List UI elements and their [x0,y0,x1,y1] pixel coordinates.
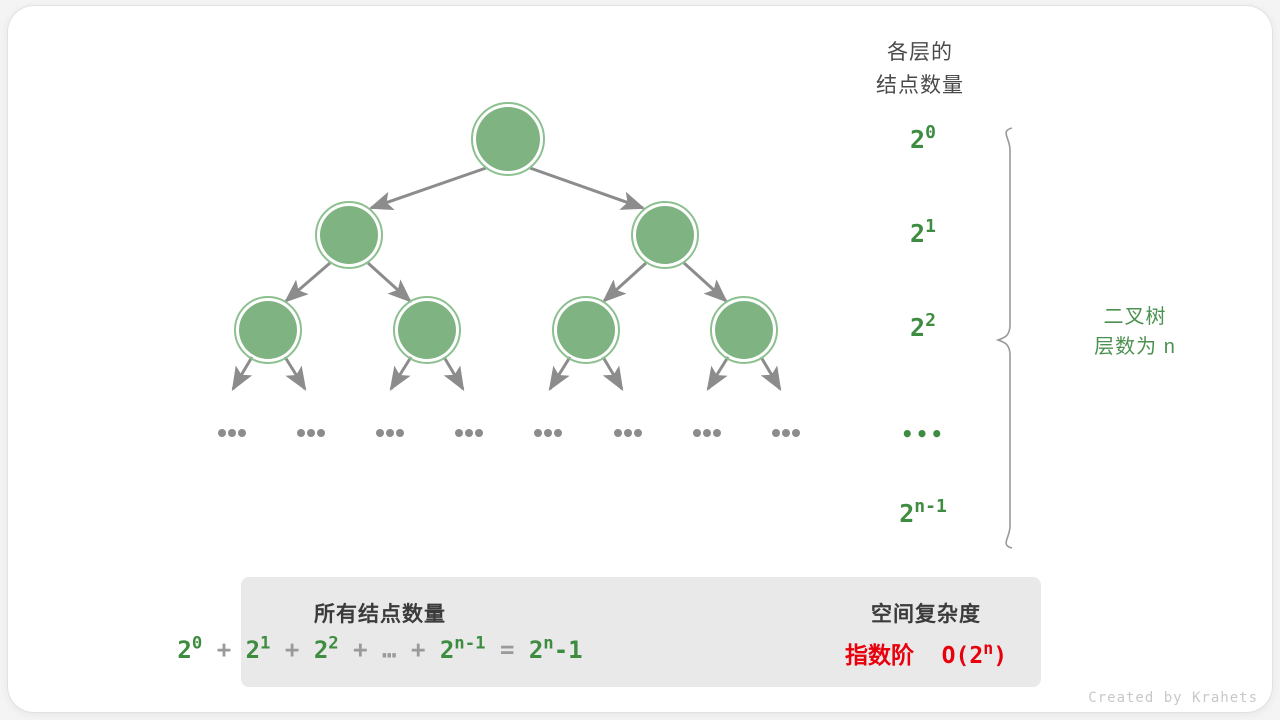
level-label-1: 21 [843,216,1003,248]
formula-term-1: 21 [246,636,271,664]
level-exp-1: 1 [925,216,936,237]
tree-node [557,301,615,359]
level-label-0: 20 [843,122,1003,154]
formula-term-0: 20 [177,636,202,664]
summary-left-heading: 所有结点数量 [0,598,760,628]
level-label-2: 22 [843,310,1003,342]
column-header-line2: 结点数量 [810,69,1030,99]
formula-term-last: 2n-1 [440,636,486,664]
complexity-prefix: 指数阶 [845,643,914,669]
tree-node [398,301,456,359]
summary-box [241,577,1041,687]
formula-plus-1: + [285,636,299,664]
complexity-value: 指数阶 O(2n) [810,636,1042,670]
level-exp-n-1: n-1 [914,496,947,517]
diagram-canvas: 各层的 结点数量 20 21 22 ••• 2n-1 二叉树 层数为 n 所有结… [0,0,1280,720]
watermark: Created by Krahets [1088,690,1258,706]
column-header-line1: 各层的 [810,36,1030,66]
formula-plus-3: + [411,636,425,664]
formula-term-2: 22 [314,636,339,664]
tree-node [636,206,694,264]
tree-node [239,301,297,359]
formula-plus-0: + [217,636,231,664]
leaf-ellipsis-row [218,429,800,437]
tree-nodes [235,103,777,363]
level-exp-0: 0 [925,122,936,143]
formula-plus-2: + [353,636,367,664]
formula-result: 2n-1 [529,636,583,664]
tree-node [715,301,773,359]
brace-annotation-line2: 层数为 n [1020,332,1250,362]
brace-annotation-line1: 二叉树 [1020,302,1250,332]
tree-node [476,107,540,171]
formula-equals: = [500,636,514,664]
summary-right-heading: 空间复杂度 [810,598,1042,628]
level-exp-2: 2 [925,310,936,331]
level-label-n-1: 2n-1 [843,496,1003,528]
level-label-ellipsis: ••• [843,422,1003,446]
formula-ellipsis: … [382,636,396,664]
tree-node [320,206,378,264]
summary-formula: 20 + 21 + 22 + … + 2n-1 = 2n-1 [0,633,760,664]
complexity-notation: O(2n) [928,643,1007,669]
tree-edges [233,168,780,389]
